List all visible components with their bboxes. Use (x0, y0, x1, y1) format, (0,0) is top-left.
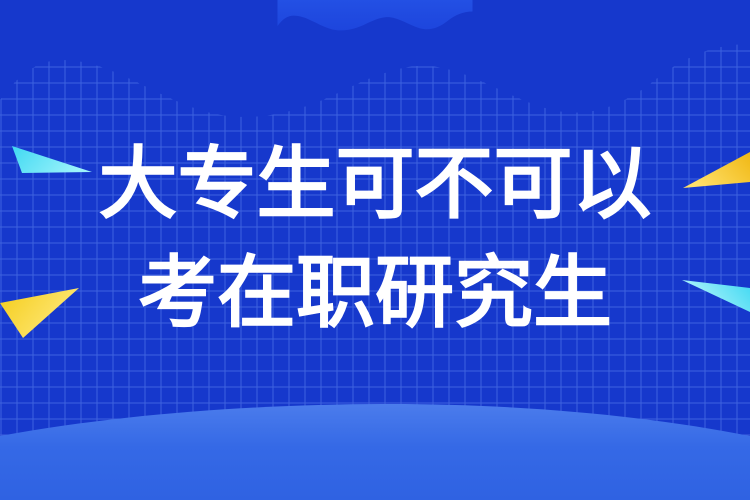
headline-block: 大专生可不可以 考在职研究生 (0, 0, 750, 500)
headline-line-2: 考在职研究生 (138, 253, 612, 332)
headline-line-1: 大专生可不可以 (99, 144, 652, 223)
promo-banner: 大专生可不可以 考在职研究生 (0, 0, 750, 500)
